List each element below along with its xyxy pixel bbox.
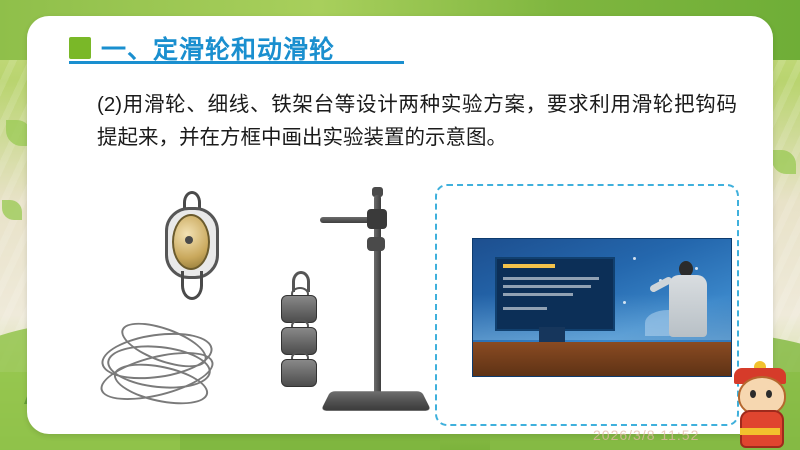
- iron-stand-icon: [312, 181, 427, 421]
- cartoon-mascot: [730, 370, 792, 448]
- title-underline: [69, 61, 404, 64]
- pulley-bottom-hook-icon: [181, 271, 203, 300]
- stand-base: [321, 391, 432, 411]
- mascot-eye: [750, 390, 756, 398]
- stand-clamp: [367, 237, 385, 251]
- slide-card: 一、定滑轮和动滑轮 (2)用滑轮、细线、铁架台等设计两种实验方案，要求利用滑轮把…: [27, 16, 773, 434]
- square-bullet-icon: [69, 37, 91, 59]
- photo-person-body: [669, 275, 707, 337]
- photo-sparkle: [695, 267, 698, 270]
- pulley-axle: [185, 236, 193, 244]
- photo-presentation-screen: [495, 257, 615, 331]
- classroom-photo[interactable]: [472, 238, 732, 377]
- photo-screen-title-line: [503, 264, 555, 268]
- stand-clamp: [367, 209, 387, 229]
- mascot-eye: [766, 390, 772, 398]
- photo-screen-text-line: [503, 277, 599, 280]
- photo-screen-text-line: [503, 307, 547, 310]
- mascot-belt: [740, 428, 780, 435]
- photo-desk: [473, 342, 731, 376]
- timestamp-watermark: 2026/3/8 11:52: [593, 427, 699, 443]
- apparatus-illustration-group: [87, 181, 427, 426]
- question-text: (2)用滑轮、细线、铁架台等设计两种实验方案，要求利用滑轮把钩码提起来，并在方框…: [97, 88, 737, 154]
- pulley-icon: [157, 191, 221, 301]
- photo-screen-text-line: [503, 285, 591, 288]
- photo-screen-text-line: [503, 293, 573, 296]
- photo-sparkle: [633, 257, 636, 260]
- string-coil-icon: [97, 326, 227, 406]
